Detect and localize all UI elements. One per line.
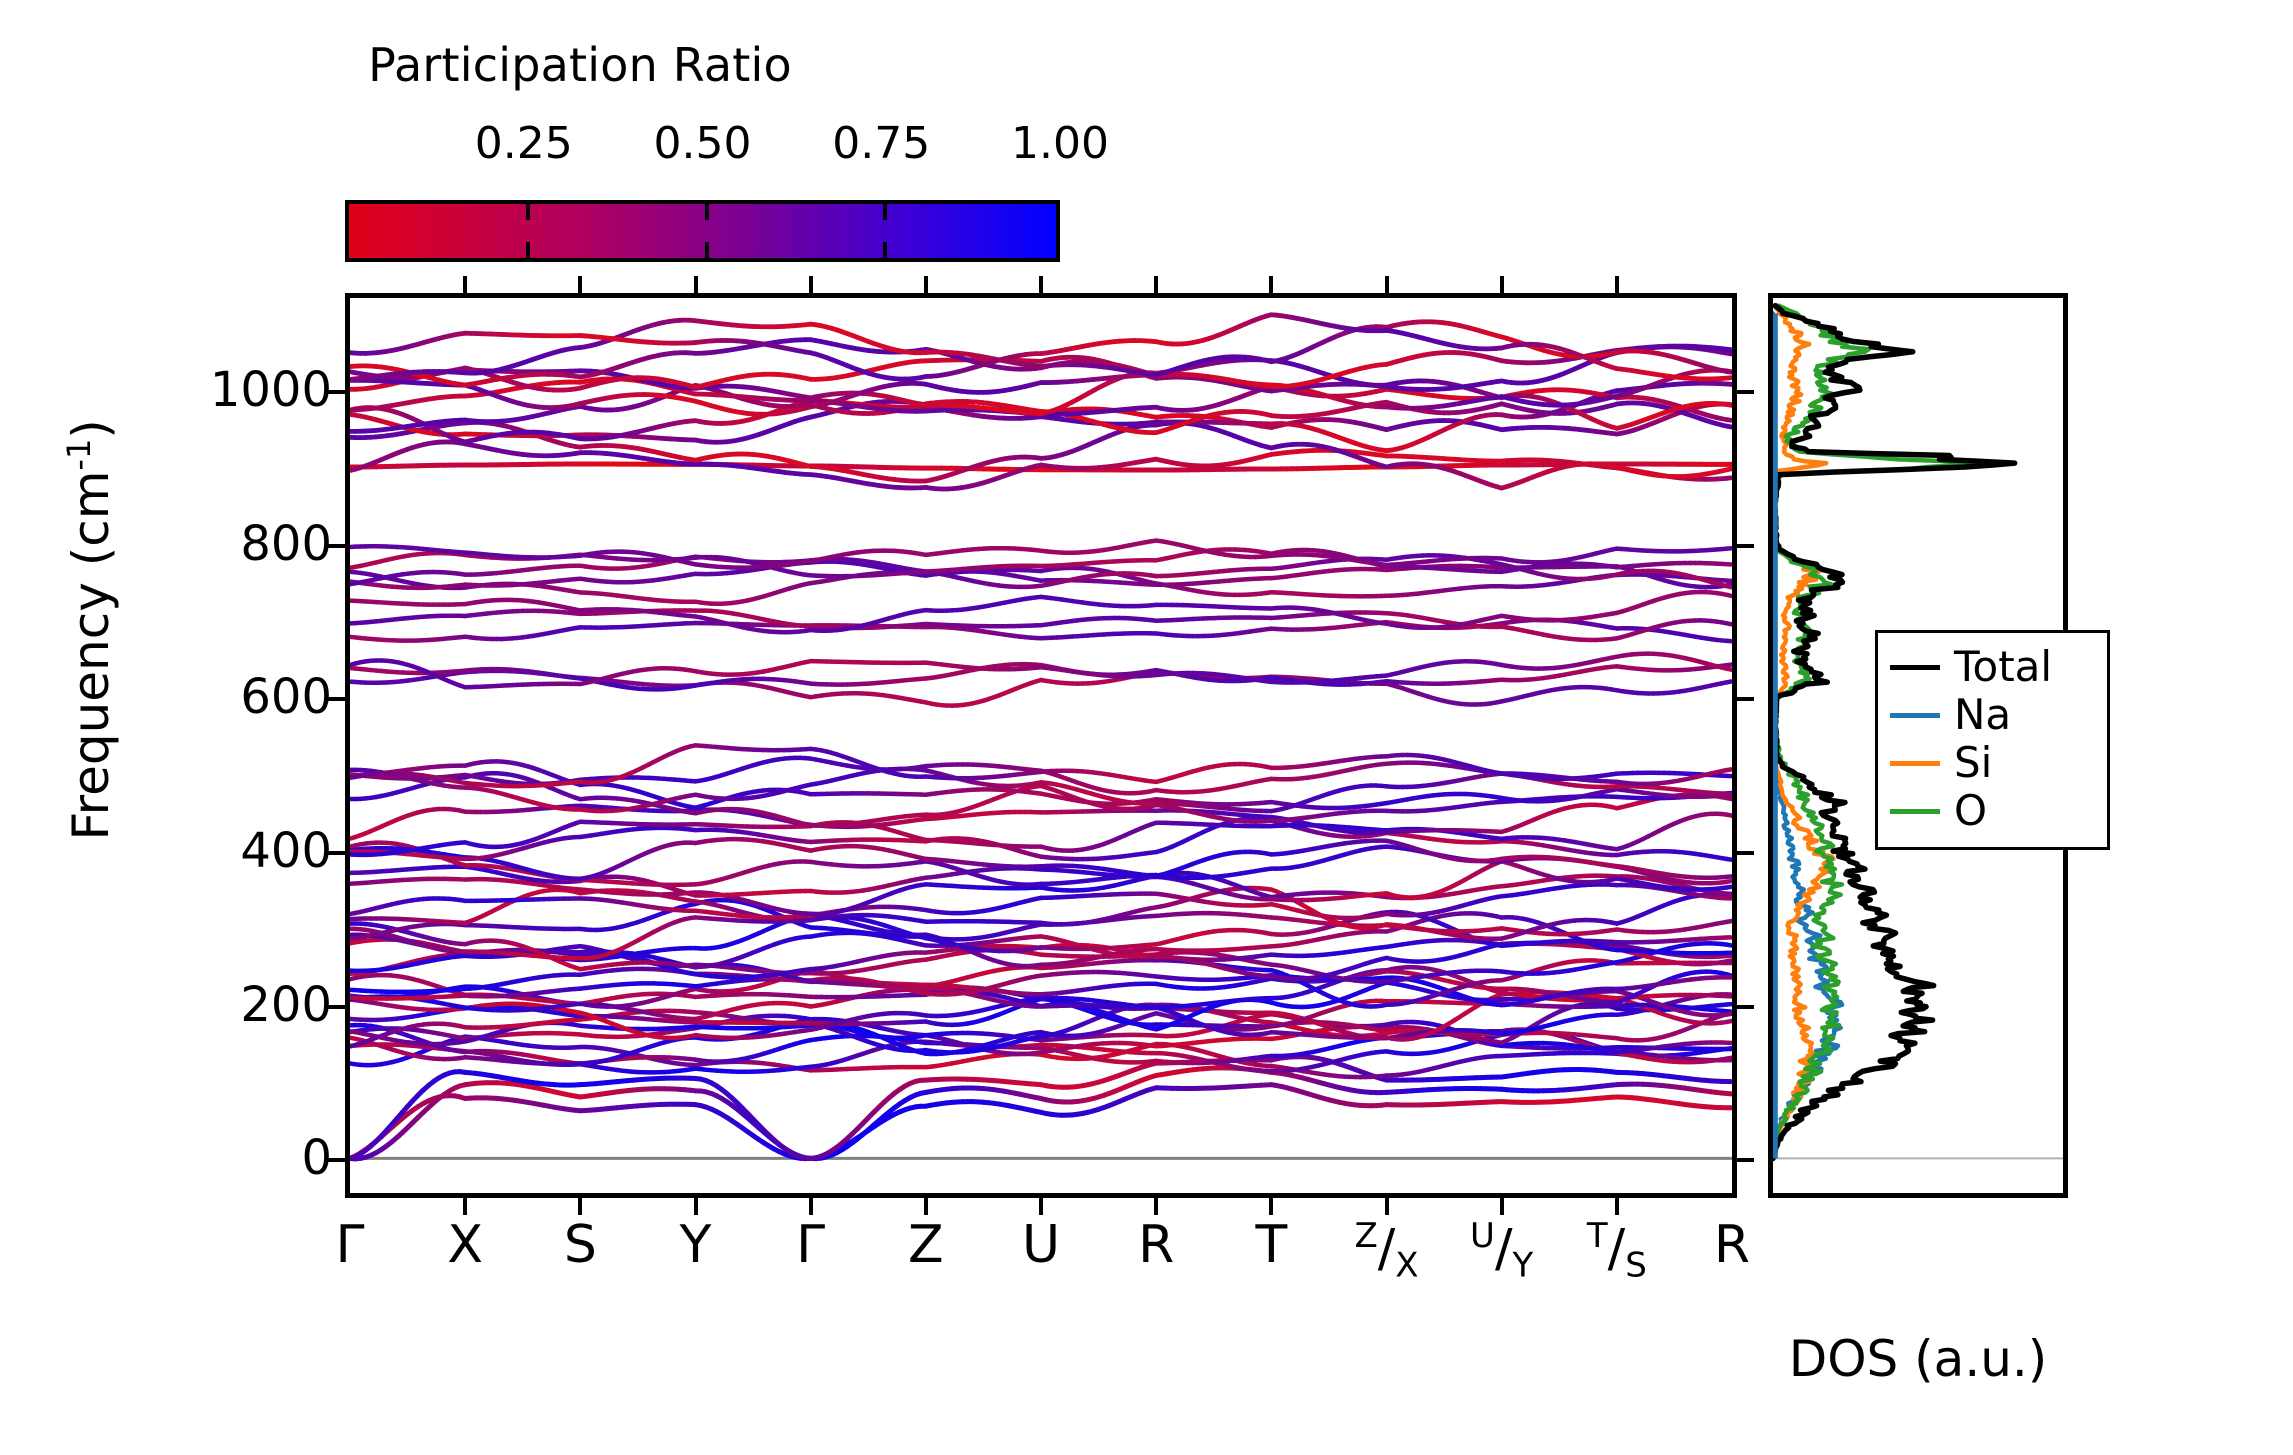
colorbar-tick-mark	[705, 204, 709, 220]
x-tick	[1615, 1193, 1619, 1215]
dos-y-tick	[1768, 1158, 1773, 1162]
y-tick-label: 1000	[210, 362, 332, 418]
dos-x-tick-top	[1773, 293, 1777, 298]
colorbar-tick-mark	[883, 204, 887, 220]
dos-y-tick	[1768, 390, 1773, 394]
legend-item[interactable]: Total	[1890, 643, 2095, 691]
y-tick-right	[1732, 390, 1754, 394]
x-tick-top	[1500, 276, 1504, 298]
y-tick-label: 400	[240, 823, 332, 879]
dos-y-tick-right	[2063, 1158, 2068, 1162]
legend-item[interactable]: O	[1890, 787, 2095, 835]
colorbar-gradient	[349, 204, 1056, 258]
y-axis-label: Frequency (cm-1)	[60, 210, 120, 1050]
dos-y-tick	[1768, 697, 1773, 701]
x-tick-label: U/Y	[1470, 1219, 1533, 1283]
y-tick-label: 600	[240, 669, 332, 725]
dos-y-tick-right	[2063, 851, 2068, 855]
y-axis-label-text: Frequency (cm	[62, 471, 120, 841]
colorbar-tick-label: 0.50	[654, 118, 752, 169]
y-tick-label: 800	[240, 516, 332, 572]
legend-color-swatch	[1890, 761, 1940, 766]
legend-label: Na	[1954, 694, 2011, 736]
x-tick-label: R	[1138, 1219, 1174, 1271]
y-tick-right	[1732, 697, 1754, 701]
x-tick	[1500, 1193, 1504, 1215]
x-tick-top	[1385, 276, 1389, 298]
legend-color-swatch	[1890, 809, 1940, 814]
x-tick-label: R	[1714, 1219, 1750, 1271]
x-tick	[1385, 1193, 1389, 1215]
legend-item[interactable]: Na	[1890, 691, 2095, 739]
x-tick-label: X	[447, 1219, 483, 1271]
legend-label: O	[1954, 790, 1987, 832]
colorbar-tick-mark	[526, 242, 530, 258]
y-tick-right	[1732, 1158, 1754, 1162]
colorbar-tick-label: 0.25	[475, 118, 573, 169]
dos-y-tick	[1768, 851, 1773, 855]
x-tick-top	[463, 276, 467, 298]
x-tick	[1154, 1193, 1158, 1215]
x-tick-label: Z/X	[1354, 1219, 1418, 1283]
x-tick-top	[1269, 276, 1273, 298]
dos-y-tick-right	[2063, 1005, 2068, 1009]
x-tick-label: Z	[908, 1219, 944, 1271]
dos-x-tick-top	[2055, 293, 2059, 298]
x-tick-label: Y	[680, 1219, 712, 1271]
y-tick-label: 200	[240, 977, 332, 1033]
y-tick-right	[1732, 851, 1754, 855]
x-tick-top	[694, 276, 698, 298]
colorbar-tick-mark	[705, 242, 709, 258]
dos-y-tick	[1768, 544, 1773, 548]
x-tick	[578, 1193, 582, 1215]
colorbar-tick-label: 0.75	[832, 118, 930, 169]
dos-x-tick	[2055, 1193, 2059, 1198]
y-tick-right	[1732, 544, 1754, 548]
x-tick	[694, 1193, 698, 1215]
x-tick-label: U	[1022, 1219, 1060, 1271]
legend-label: Si	[1954, 742, 1992, 784]
x-tick	[1269, 1193, 1273, 1215]
x-tick-label: Γ	[796, 1219, 825, 1271]
colorbar-tick-label: 1.00	[1011, 118, 1109, 169]
x-tick	[1039, 1193, 1043, 1215]
y-axis-label-close: )	[62, 419, 120, 439]
dos-x-tick	[1773, 1193, 1777, 1198]
x-tick-top	[578, 276, 582, 298]
x-tick-top	[1154, 276, 1158, 298]
y-axis-label-exponent: -1	[60, 439, 98, 471]
x-tick-label: T/S	[1587, 1219, 1647, 1283]
colorbar-tick-labels: 0.250.500.751.00	[0, 118, 1160, 168]
dos-y-tick-right	[2063, 390, 2068, 394]
band-structure-plot: 02004006008001000 ΓXSYΓZURTZ/XU/YT/SR	[345, 293, 1737, 1198]
colorbar	[345, 200, 1060, 262]
x-tick-label: S	[564, 1219, 597, 1271]
x-tick	[463, 1193, 467, 1215]
x-tick	[924, 1193, 928, 1215]
dos-y-tick-right	[2063, 544, 2068, 548]
x-tick-top	[924, 276, 928, 298]
dos-x-axis-label: DOS (a.u.)	[1718, 1330, 2118, 1388]
x-tick-top	[1615, 276, 1619, 298]
dos-y-tick	[1768, 1005, 1773, 1009]
x-tick-top	[1039, 276, 1043, 298]
x-tick-top	[809, 276, 813, 298]
legend-color-swatch	[1890, 665, 1940, 670]
legend-color-swatch	[1890, 713, 1940, 718]
colorbar-title: Participation Ratio	[0, 38, 1160, 92]
legend-label: Total	[1954, 646, 2052, 688]
band-structure-canvas	[350, 298, 1732, 1193]
y-tick-label: 0	[301, 1130, 332, 1186]
dos-legend: TotalNaSiO	[1875, 630, 2110, 850]
x-tick-label: Γ	[336, 1219, 365, 1271]
colorbar-tick-mark	[883, 242, 887, 258]
x-tick-label: T	[1255, 1219, 1287, 1271]
colorbar-tick-mark	[526, 204, 530, 220]
legend-item[interactable]: Si	[1890, 739, 2095, 787]
x-tick	[809, 1193, 813, 1215]
y-tick-right	[1732, 1005, 1754, 1009]
